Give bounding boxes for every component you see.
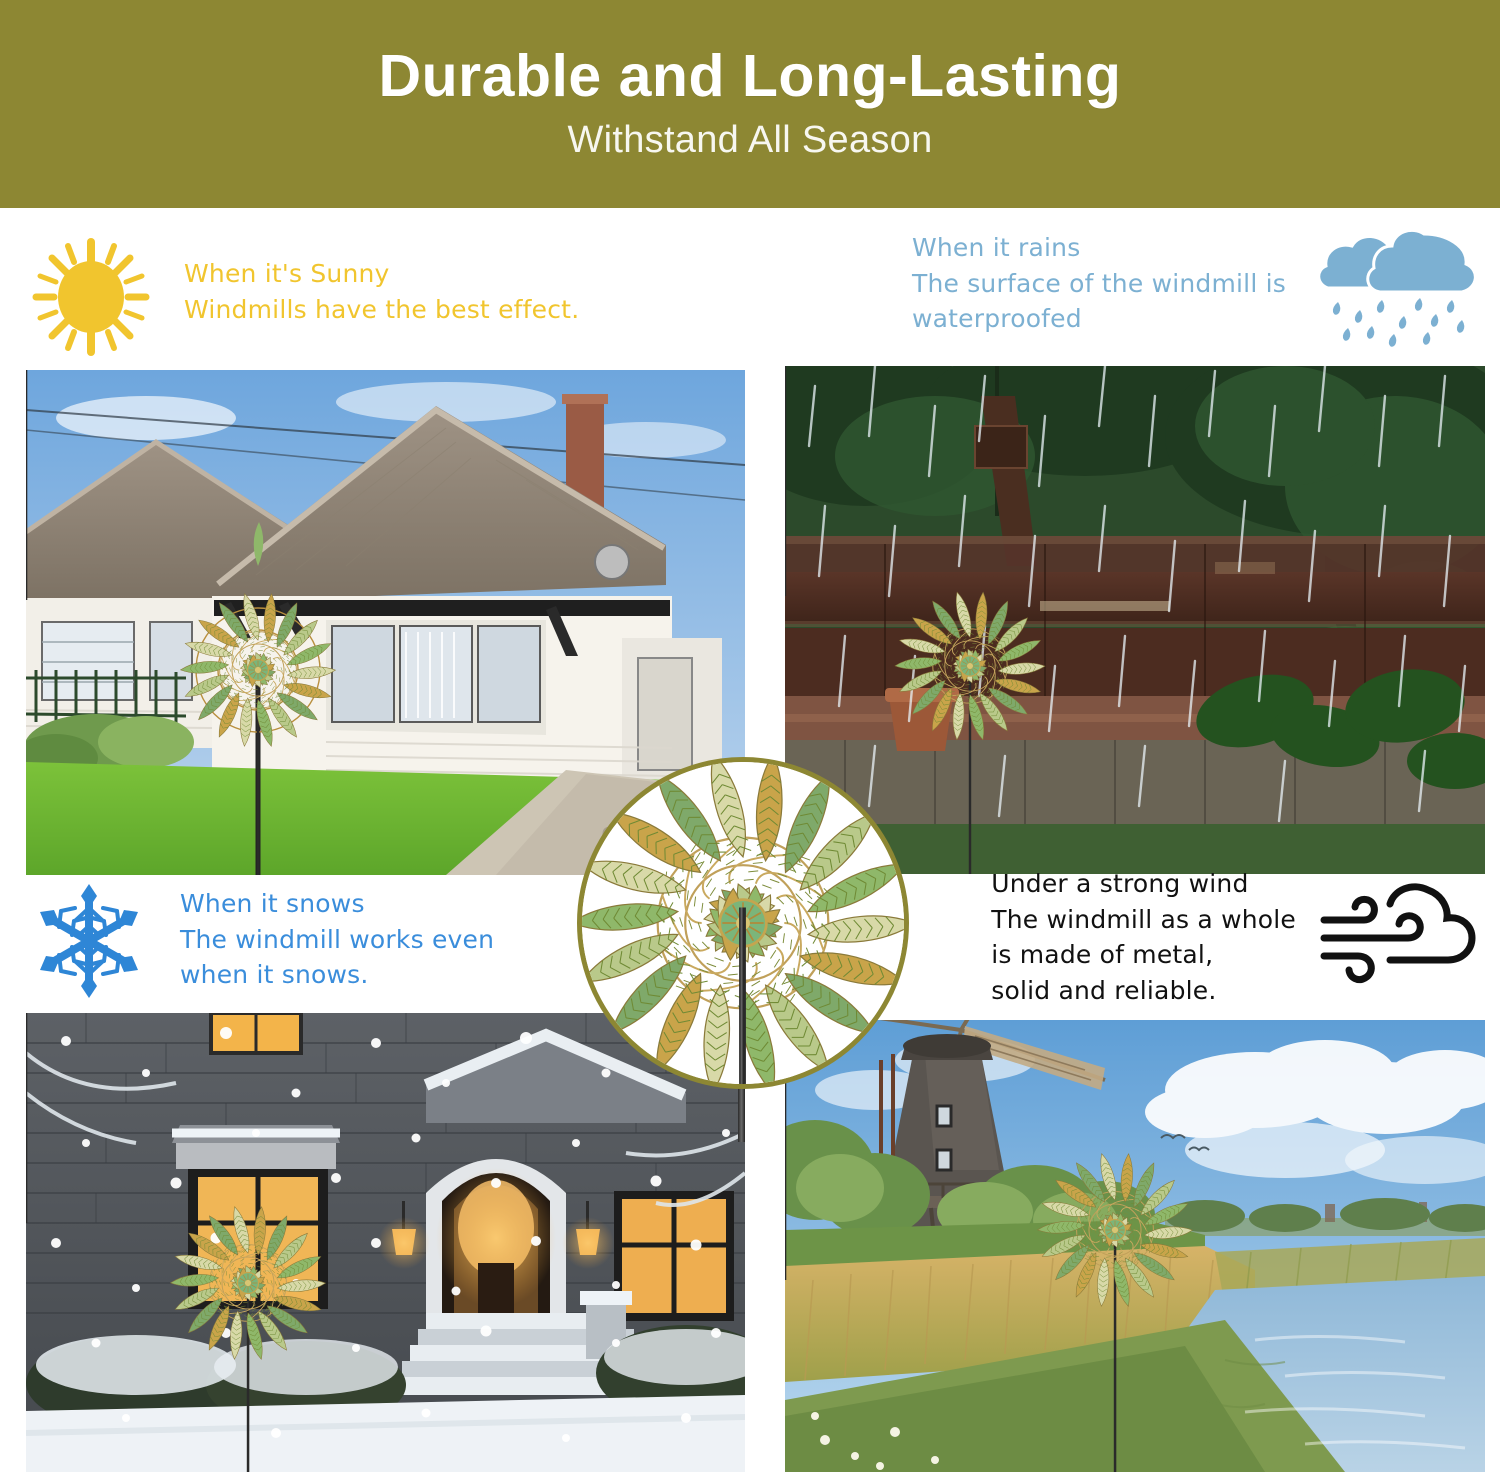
caption-wind: Under a strong wind The windmill as a wh… xyxy=(920,866,1480,1008)
caption-snow: When it snows The windmill works even wh… xyxy=(26,878,646,1008)
rain-cloud-icon xyxy=(1312,228,1480,352)
snow-photo xyxy=(26,1013,745,1472)
product-closeup-inset xyxy=(577,757,909,1089)
snowflake-icon xyxy=(26,878,152,1008)
spinner-pole-extension xyxy=(738,1080,745,1142)
wind-photo xyxy=(785,1020,1485,1472)
caption-wind-text: Under a strong wind The windmill as a wh… xyxy=(991,866,1296,1008)
wind-cloud-icon xyxy=(1320,880,1480,992)
snow-spinner-overlay xyxy=(26,1013,745,1472)
sun-icon xyxy=(26,232,156,366)
rain-photo xyxy=(785,366,1485,874)
page-subtitle: Withstand All Season xyxy=(567,119,932,162)
infographic-page: Durable and Long-Lasting Withstand All S… xyxy=(0,0,1500,1472)
caption-rain-text: When it rains The surface of the windmil… xyxy=(912,230,1286,337)
caption-snow-text: When it snows The windmill works even wh… xyxy=(180,886,494,993)
caption-sunny-text: When it's Sunny Windmills have the best … xyxy=(184,256,579,327)
wind-spinner-overlay xyxy=(785,1020,1485,1472)
rain-spinner-overlay xyxy=(785,366,1485,874)
page-title: Durable and Long-Lasting xyxy=(379,46,1122,108)
caption-rain: When it rains The surface of the windmil… xyxy=(840,228,1480,352)
caption-sunny: When it's Sunny Windmills have the best … xyxy=(26,232,726,366)
header-banner: Durable and Long-Lasting Withstand All S… xyxy=(0,0,1500,208)
product-closeup-svg xyxy=(582,762,904,1084)
